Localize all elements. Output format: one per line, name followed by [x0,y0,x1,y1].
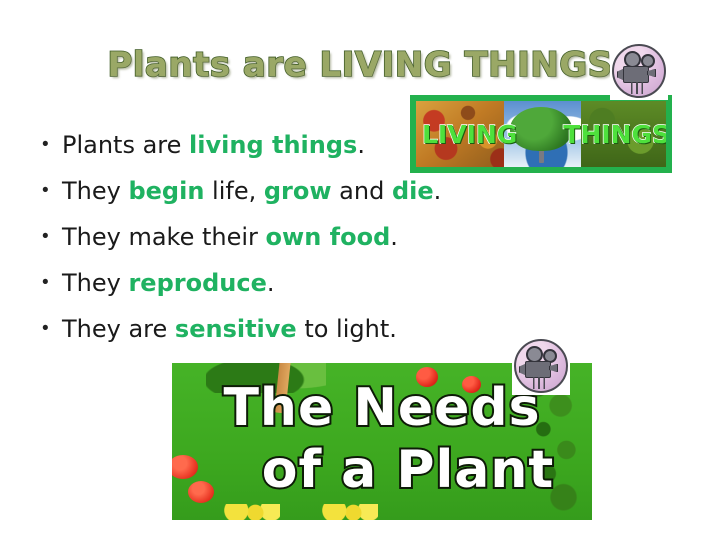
highlight-segment: living things [189,131,357,159]
camera-tripod [628,82,646,94]
text-segment: Plants are [62,131,189,159]
highlight-segment: reproduce [128,269,266,297]
list-item: • They reproduce. [36,268,456,314]
highlight-segment: die [392,177,434,205]
bullet-list: • Plants are living things. • They begin… [36,130,456,360]
bullet-marker: • [36,176,62,206]
yellow-flower-decoration [322,504,378,520]
movie-camera-icon[interactable] [610,42,668,100]
camera-tripod [530,377,548,389]
needs-banner-text: The Needs of a Plant [172,377,592,501]
text-segment: to light. [297,315,397,343]
list-item: • They begin life, grow and die. [36,176,456,222]
text-segment: . [357,131,365,159]
highlight-segment: sensitive [175,315,297,343]
movie-camera-icon[interactable] [512,337,570,395]
text-segment: They [62,177,128,205]
bullet-marker: • [36,222,62,252]
highlight-segment: own food [266,223,391,251]
list-item-text: They make their own food. [62,222,398,253]
bullet-marker: • [36,268,62,298]
highlight-segment: grow [264,177,332,205]
bullet-marker: • [36,130,62,160]
text-segment: . [434,177,442,205]
list-item-text: They begin life, grow and die. [62,176,441,207]
list-item-text: Plants are living things. [62,130,365,161]
slide-canvas: Plants are LIVING THINGS • Plants are li… [0,0,720,539]
highlight-segment: begin [128,177,204,205]
banner-word-right: THINGS [563,122,670,147]
needs-banner-line2: of a Plant [172,439,592,501]
list-item: • They are sensitive to light. [36,314,456,360]
banner-word-left: LIVING [422,122,517,147]
text-segment: They make their [62,223,266,251]
list-item-text: They reproduce. [62,268,275,299]
list-item: • They make their own food. [36,222,456,268]
text-segment: and [332,177,392,205]
camera-body [623,66,649,83]
living-things-banner-image: LIVING THINGS [410,95,672,173]
list-item: • Plants are living things. [36,130,456,176]
text-segment: They [62,269,128,297]
camera-body [525,361,551,378]
list-item-text: They are sensitive to light. [62,314,397,345]
text-segment: life, [204,177,263,205]
text-segment: They are [62,315,175,343]
bullet-marker: • [36,314,62,344]
yellow-flower-decoration [224,504,280,520]
text-segment: . [390,223,398,251]
text-segment: . [267,269,275,297]
